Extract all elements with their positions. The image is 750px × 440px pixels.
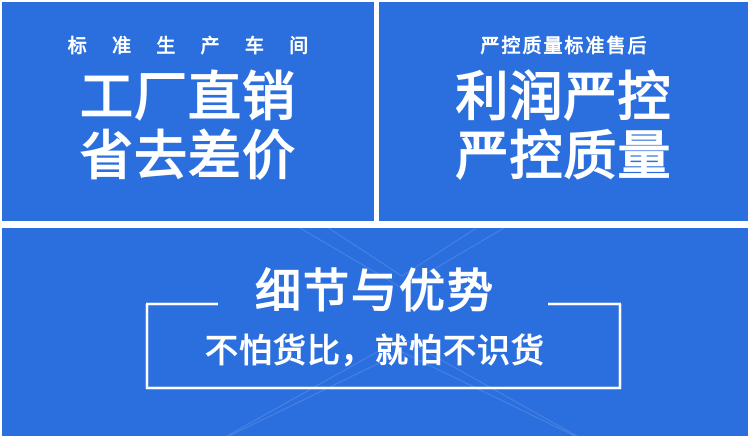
panel-bottom-content: 细节与优势 不怕货比，就怕不识货 (2, 228, 748, 436)
panel-right-headline-line2: 严控质量 (456, 127, 672, 186)
panel-quality-control: 严控质量标准售后 利润严控 严控质量 (379, 2, 748, 221)
panel-right-content: 严控质量标准售后 利润严控 严控质量 (379, 2, 748, 221)
panel-left-headline-line1: 工厂直销 (80, 68, 296, 127)
panel-factory-direct: 标 准 生 产 车 间 工厂直销 省去差价 (2, 2, 374, 221)
promo-banner: 标 准 生 产 车 间 工厂直销 省去差价 严控质量标准售后 利润严控 严控质量 (0, 0, 750, 440)
panel-left-headline-line2: 省去差价 (80, 127, 296, 186)
panel-bottom-subtitle: 不怕货比，就怕不识货 (2, 334, 748, 367)
panel-right-eyebrow: 严控质量标准售后 (478, 37, 648, 56)
panel-left-content: 标 准 生 产 车 间 工厂直销 省去差价 (2, 2, 374, 221)
panel-left-eyebrow: 标 准 生 产 车 间 (58, 37, 318, 56)
panel-right-headline-line1: 利润严控 (456, 68, 672, 127)
panel-details-advantages: 细节与优势 不怕货比，就怕不识货 (2, 228, 748, 436)
panel-bottom-title: 细节与优势 (2, 268, 748, 314)
